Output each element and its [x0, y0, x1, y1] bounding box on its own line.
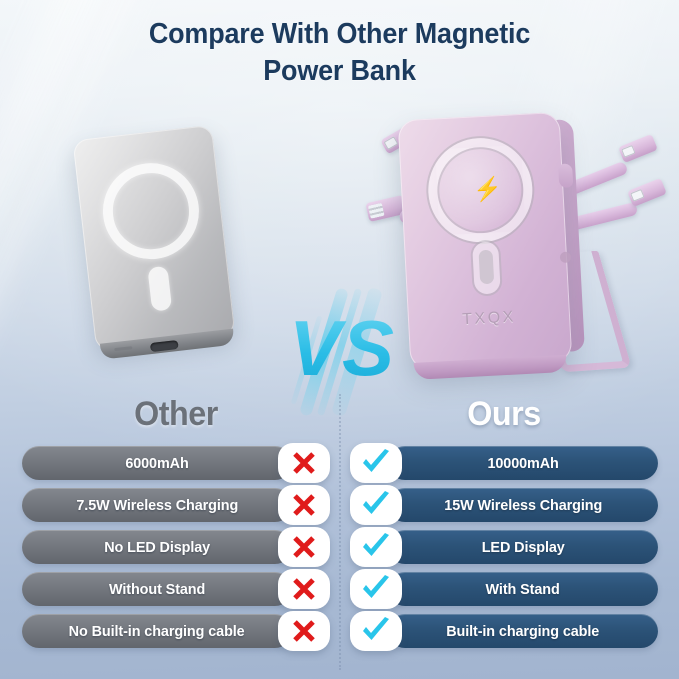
feature-pill: No LED Display	[22, 530, 292, 564]
column-heading-other: Other	[30, 392, 323, 438]
table-row: 7.5W Wireless Charging	[22, 488, 330, 522]
feature-label: LED Display	[482, 539, 565, 556]
status-badge-cross	[278, 443, 330, 483]
table-row: 10000mAh	[350, 446, 658, 480]
title-line-1: Compare With Other Magnetic	[149, 18, 530, 50]
table-row: Without Stand	[22, 572, 330, 606]
feature-label: 10000mAh	[487, 455, 558, 472]
feature-label: 7.5W Wireless Charging	[76, 497, 238, 514]
table-row: LED Display	[350, 530, 658, 564]
cross-icon	[290, 533, 318, 561]
other-power-bank-image	[72, 125, 235, 351]
column-heading-ours: Ours	[358, 392, 651, 438]
feature-label: No LED Display	[104, 539, 210, 556]
check-icon	[360, 616, 392, 646]
feature-pill: LED Display	[388, 530, 658, 564]
feature-pill: 10000mAh	[388, 446, 658, 480]
status-badge-cross	[278, 569, 330, 609]
status-badge-check	[350, 611, 402, 651]
status-badge-check	[350, 443, 402, 483]
table-row: 6000mAh	[22, 446, 330, 480]
feature-label: 6000mAh	[125, 455, 188, 472]
feature-pill: No Built-in charging cable	[22, 614, 292, 648]
feature-label: With Stand	[486, 581, 560, 598]
cross-icon	[290, 449, 318, 477]
check-icon	[360, 490, 392, 520]
table-row: No Built-in charging cable	[22, 614, 330, 648]
title-line-2: Power Bank	[24, 53, 655, 90]
check-icon	[360, 574, 392, 604]
status-badge-cross	[278, 611, 330, 651]
status-badge-cross	[278, 485, 330, 525]
versus-label: VS	[284, 300, 400, 396]
feature-list-ours: 10000mAh 15W Wireless Charging	[350, 446, 658, 648]
check-icon	[360, 448, 392, 478]
feature-label: Without Stand	[109, 581, 205, 598]
status-badge-cross	[278, 527, 330, 567]
side-button	[558, 163, 573, 188]
column-divider	[339, 394, 341, 670]
cross-icon	[290, 575, 318, 603]
feature-pill: With Stand	[388, 572, 658, 606]
table-row: Built-in charging cable	[350, 614, 658, 648]
comparison-column-other: Other 6000mAh 7.5W Wireless Charging	[22, 392, 330, 656]
feature-pill: 6000mAh	[22, 446, 292, 480]
cross-icon	[290, 617, 318, 645]
lightning-connector-icon	[618, 134, 658, 163]
infographic-canvas: Compare With Other Magnetic Power Bank	[0, 0, 679, 679]
feature-pill: 7.5W Wireless Charging	[22, 488, 292, 522]
status-badge-check	[350, 485, 402, 525]
table-row: With Stand	[350, 572, 658, 606]
check-icon	[360, 532, 392, 562]
ours-power-bank-image: ⚡ TXQX	[398, 112, 573, 370]
status-indicator-pill	[472, 241, 501, 294]
feature-pill: Without Stand	[22, 572, 292, 606]
comparison-table: Other 6000mAh 7.5W Wireless Charging	[0, 392, 679, 679]
feature-label: Built-in charging cable	[446, 623, 599, 640]
feature-label: No Built-in charging cable	[69, 623, 245, 640]
feature-pill: Built-in charging cable	[388, 614, 658, 648]
status-badge-check	[350, 527, 402, 567]
comparison-column-ours: Ours 10000mAh 15W Wireless Charging	[350, 392, 658, 656]
usb-c-connector-icon	[627, 178, 667, 207]
cross-icon	[290, 491, 318, 519]
product-comparison-images: ⚡ TXQX VS	[0, 104, 679, 389]
feature-list-other: 6000mAh 7.5W Wireless Charging	[22, 446, 330, 648]
lightning-bolt-icon: ⚡	[473, 176, 492, 203]
feature-label: 15W Wireless Charging	[444, 497, 602, 514]
table-row: 15W Wireless Charging	[350, 488, 658, 522]
page-title: Compare With Other Magnetic Power Bank	[24, 16, 655, 90]
status-badge-check	[350, 569, 402, 609]
feature-pill: 15W Wireless Charging	[388, 488, 658, 522]
table-row: No LED Display	[22, 530, 330, 564]
